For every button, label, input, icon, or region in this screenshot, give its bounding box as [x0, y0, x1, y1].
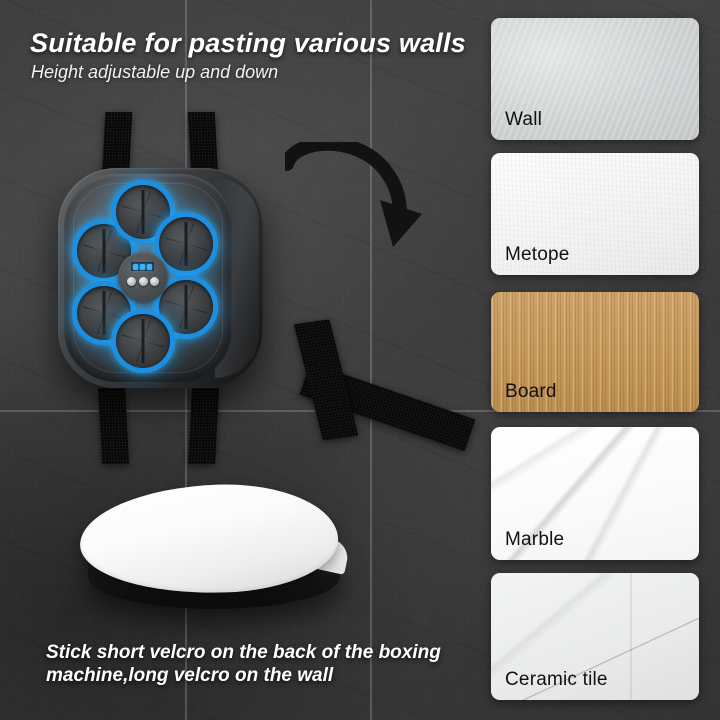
- swatch-label: Wall: [505, 109, 542, 131]
- back-plate-hole: [222, 598, 226, 602]
- control-panel: [118, 252, 168, 302]
- swatch-marble[interactable]: Marble: [491, 427, 699, 560]
- target-pad: [116, 314, 170, 368]
- swatch-label: Board: [505, 381, 557, 403]
- back-plate-hole: [309, 573, 313, 577]
- swatch-wall[interactable]: Wall: [491, 18, 699, 140]
- target-pad: [159, 280, 213, 334]
- page-subtitle: Height adjustable up and down: [31, 62, 278, 83]
- control-button[interactable]: [150, 277, 159, 286]
- target-pad: [159, 217, 213, 271]
- swatch-label: Ceramic tile: [505, 669, 608, 691]
- velcro-strip-bottom-left: [98, 388, 129, 464]
- boxing-machine: [58, 168, 263, 388]
- swatch-ceramic-tile[interactable]: Ceramic tile: [491, 573, 699, 700]
- grout-line-vertical-right: [370, 0, 372, 720]
- swatch-label: Marble: [505, 529, 564, 551]
- product-infographic: Suitable for pasting various walls Heigh…: [0, 0, 720, 720]
- velcro-strip-bottom-right: [188, 388, 219, 464]
- swatch-metope[interactable]: Metope: [491, 153, 699, 275]
- machine-back-plate: [80, 485, 350, 620]
- control-buttons: [127, 277, 159, 286]
- page-title: Suitable for pasting various walls: [30, 28, 466, 59]
- swatch-label: Metope: [505, 244, 570, 266]
- control-button[interactable]: [139, 277, 148, 286]
- control-button[interactable]: [127, 277, 136, 286]
- led-display: [131, 262, 154, 271]
- caption-text: Stick short velcro on the back of the bo…: [46, 641, 446, 687]
- swatch-board[interactable]: Board: [491, 292, 699, 412]
- curved-down-arrow-icon: [285, 142, 430, 277]
